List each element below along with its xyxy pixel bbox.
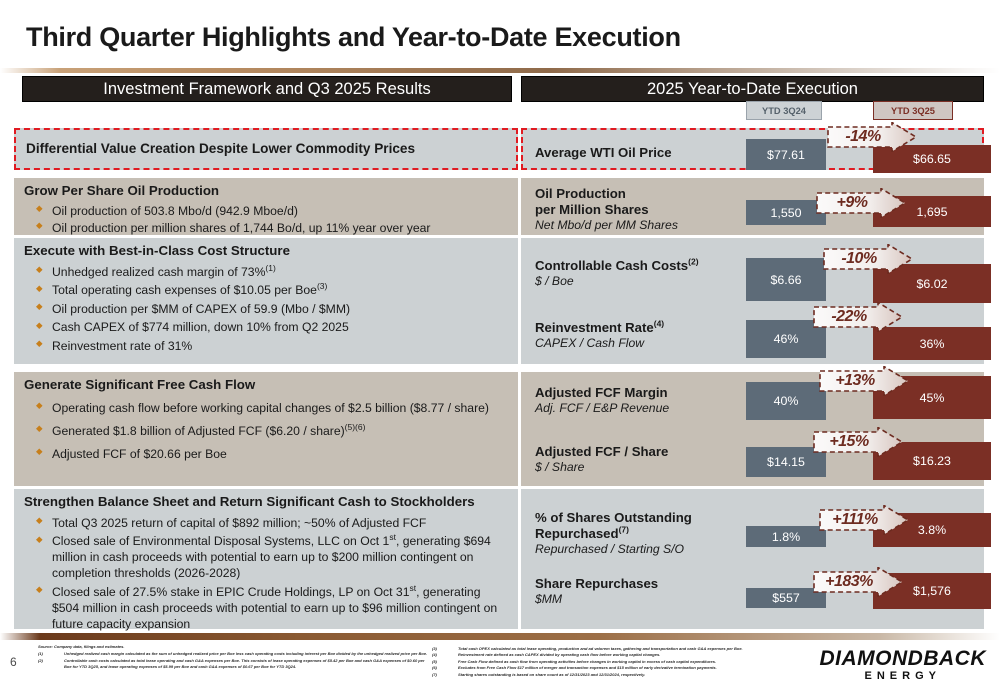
metric-sublabel: $ / Share (535, 460, 668, 475)
bar-prior-value: 1.8% (772, 530, 800, 544)
list-item: Oil production per $MM of CAPEX of 59.9 … (24, 301, 510, 317)
left-highlight-heading: Differential Value Creation Despite Lowe… (26, 141, 415, 158)
title-divider (0, 68, 1000, 73)
bar-current-value: 1,695 (916, 205, 947, 219)
metric-title: Oil Productionper Million Shares (535, 186, 678, 218)
metric-title: Average WTI Oil Price (535, 145, 672, 161)
section-bullets: Total Q3 2025 return of capital of $892 … (24, 515, 510, 633)
left-section-grow-per-share: Grow Per Share Oil Production Oil produc… (14, 178, 518, 235)
list-item: Closed sale of 27.5% stake in EPIC Crude… (24, 584, 510, 632)
left-section-free-cash-flow: Generate Significant Free Cash Flow Oper… (14, 372, 518, 486)
list-item: Reinvestment rate of 31% (24, 338, 510, 354)
footnote-row: (7)Starting shares outstanding is based … (432, 672, 792, 678)
metric-sublabel: Net Mbo/d per MM Shares (535, 218, 678, 233)
change-arrow: -22% (812, 302, 904, 332)
metric-title: % of Shares Outstanding (535, 510, 692, 526)
page-number: 6 (10, 655, 17, 669)
bar-prior-value: $14.15 (767, 455, 805, 469)
bar-prior-value: $77.61 (767, 148, 805, 162)
bar-prior-value: 1,550 (770, 206, 801, 220)
bar-current-value: $66.65 (913, 152, 951, 166)
list-item: Closed sale of Environmental Disposal Sy… (24, 533, 510, 581)
bar-prior: 1,550 (746, 200, 826, 225)
change-arrow: +183% (812, 567, 904, 597)
change-percent: +9% (815, 188, 889, 218)
list-item: Oil production per million shares of 1,7… (24, 220, 510, 236)
bar-current-value: $16.23 (913, 454, 951, 468)
metric-label: Oil Productionper Million SharesNet Mbo/… (535, 186, 678, 233)
section-heading: Strengthen Balance Sheet and Return Sign… (24, 494, 510, 511)
page-title: Third Quarter Highlights and Year-to-Dat… (26, 22, 681, 53)
metric-title: Adjusted FCF Margin (535, 385, 669, 401)
list-item: Total operating cash expenses of $10.05 … (24, 282, 510, 298)
metric-title: Reinvestment Rate(4) (535, 320, 664, 336)
column-header-left: Investment Framework and Q3 2025 Results (22, 76, 512, 102)
change-percent: +15% (812, 427, 886, 457)
section-heading: Grow Per Share Oil Production (24, 183, 510, 200)
left-section-cost-structure: Execute with Best-in-Class Cost Structur… (14, 238, 518, 364)
metric-label: Average WTI Oil Price (535, 145, 672, 161)
footnote-text: Starting shares outstanding is based on … (458, 672, 792, 678)
metric-title: Controllable Cash Costs(2) (535, 258, 699, 274)
bar-prior-value: $557 (772, 591, 800, 605)
change-percent: +13% (818, 366, 892, 396)
bar-prior-value: $6.66 (770, 273, 801, 287)
change-arrow: -10% (822, 244, 914, 274)
logo-name: DIAMONDBACK (820, 648, 987, 669)
bar-prior: 40% (746, 382, 826, 420)
logo-subtitle: ENERGY (820, 671, 987, 682)
change-arrow: +9% (815, 188, 907, 218)
bar-prior: $6.66 (746, 258, 826, 301)
section-bullets: Unhedged realized cash margin of 73%(1)T… (24, 264, 510, 354)
footnote-text: Controllable cash costs calculated as to… (64, 658, 428, 671)
metric-label: Controllable Cash Costs(2)$ / Boe (535, 258, 699, 289)
list-item: Operating cash flow before working capit… (24, 400, 510, 416)
change-arrow: -14% (826, 122, 918, 152)
metric-sublabel: Repurchased / Starting S/O (535, 542, 692, 557)
left-section-balance-sheet: Strengthen Balance Sheet and Return Sign… (14, 489, 518, 629)
metric-sublabel: CAPEX / Cash Flow (535, 336, 664, 351)
bar-current-value: 3.8% (918, 523, 946, 537)
change-arrow: +15% (812, 427, 904, 457)
change-percent: -22% (812, 302, 886, 332)
section-heading: Execute with Best-in-Class Cost Structur… (24, 243, 510, 260)
metric-label: Reinvestment Rate(4)CAPEX / Cash Flow (535, 320, 664, 351)
section-bullets: Operating cash flow before working capit… (24, 400, 510, 462)
list-item: Cash CAPEX of $774 million, down 10% fro… (24, 319, 510, 335)
footnotes-left: Source: Company data, filings and estima… (38, 644, 428, 671)
left-highlight-block: Differential Value Creation Despite Lowe… (14, 128, 518, 170)
company-logo: DIAMONDBACK ENERGY (820, 648, 987, 682)
change-percent: -14% (826, 122, 900, 152)
footnote-row: (2)Controllable cash costs calculated as… (38, 658, 428, 671)
footnote-number: (7) (432, 672, 458, 678)
footnote-number: (2) (38, 658, 64, 671)
change-arrow: +13% (818, 366, 910, 396)
metric-label: Adjusted FCF MarginAdj. FCF / E&P Revenu… (535, 385, 669, 416)
bar-current-value: 36% (920, 337, 945, 351)
metric-sublabel: $ / Boe (535, 274, 699, 289)
list-item: Generated $1.8 billion of Adjusted FCF (… (24, 423, 510, 439)
list-item: Oil production of 503.8 Mbo/d (942.9 Mbo… (24, 203, 510, 219)
bar-current-value: $1,576 (913, 584, 951, 598)
list-item: Total Q3 2025 return of capital of $892 … (24, 515, 510, 531)
bar-prior: $77.61 (746, 139, 826, 170)
footnotes-right: (3)Total cash OPEX calculated as total l… (432, 646, 792, 678)
bar-prior-value: 46% (774, 332, 799, 346)
section-bullets: Oil production of 503.8 Mbo/d (942.9 Mbo… (24, 203, 510, 236)
bar-prior: 1.8% (746, 526, 826, 547)
change-percent: +183% (812, 567, 886, 597)
metric-title: Adjusted FCF / Share (535, 444, 668, 460)
change-arrow: +111% (818, 505, 910, 535)
metric-title-2: Repurchased(7) (535, 526, 692, 542)
change-percent: -10% (822, 244, 896, 274)
metric-label: % of Shares OutstandingRepurchased(7)Rep… (535, 510, 692, 557)
metric-sublabel: Adj. FCF / E&P Revenue (535, 401, 669, 416)
bar-prior-value: 40% (774, 394, 799, 408)
footer-divider (0, 633, 1000, 640)
metric-label: Share Repurchases$MM (535, 576, 658, 607)
section-heading: Generate Significant Free Cash Flow (24, 377, 510, 394)
list-item: Unhedged realized cash margin of 73%(1) (24, 264, 510, 280)
change-percent: +111% (818, 505, 892, 535)
legend-prior-period: YTD 3Q24 (746, 101, 822, 120)
column-header-right: 2025 Year-to-Date Execution (521, 76, 984, 102)
slide-root: Third Quarter Highlights and Year-to-Dat… (0, 0, 1000, 685)
bar-current-value: $6.02 (916, 277, 947, 291)
legend-current-period: YTD 3Q25 (873, 101, 953, 120)
metric-title: Share Repurchases (535, 576, 658, 592)
bar-current-value: 45% (920, 391, 945, 405)
footnote-source: Source: Company data, filings and estima… (38, 644, 428, 650)
list-item: Adjusted FCF of $20.66 per Boe (24, 446, 510, 462)
metric-sublabel: $MM (535, 592, 658, 607)
metric-label: Adjusted FCF / Share$ / Share (535, 444, 668, 475)
